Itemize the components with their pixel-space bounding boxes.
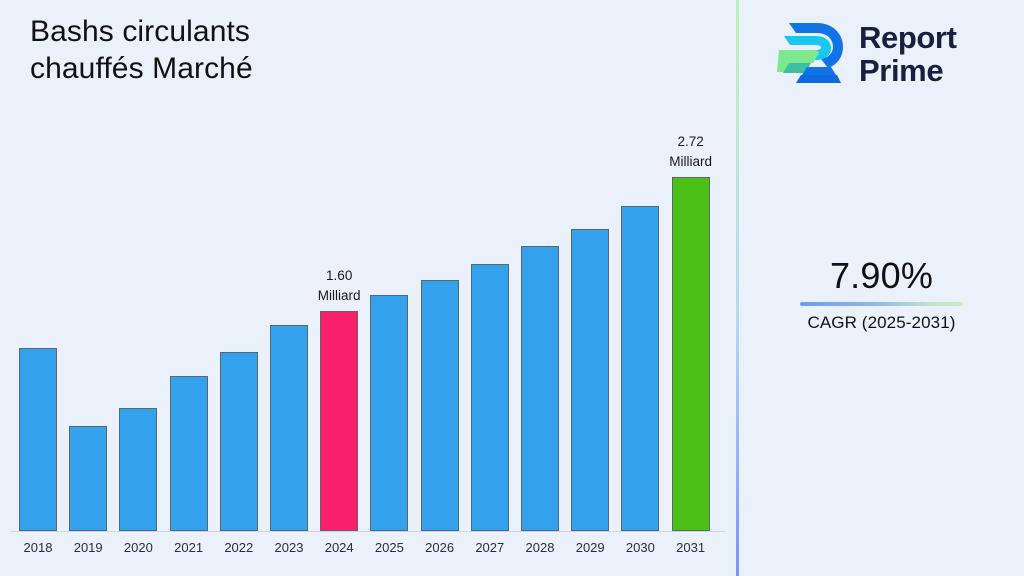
bar-2027[interactable]: [471, 264, 509, 531]
bar-2025[interactable]: [370, 295, 408, 531]
bar-2018[interactable]: [19, 348, 57, 531]
bar-2030[interactable]: [621, 206, 659, 531]
report-prime-logo-icon: [771, 19, 847, 91]
brand-name: Report Prime: [859, 22, 957, 87]
cagr-value: 7.90%: [739, 255, 1024, 296]
brand-logo-block: Report Prime: [771, 14, 1011, 96]
cagr-caption: CAGR (2025-2031): [739, 313, 1024, 333]
bar-2023[interactable]: [270, 325, 308, 531]
summary-panel: Report Prime 7.90% CAGR (2025-2031): [739, 0, 1024, 576]
screenshot-root: Bashs circulants chauffés Marché 2018201…: [0, 0, 1024, 576]
bar-2024[interactable]: [320, 311, 358, 531]
bar-2022[interactable]: [220, 352, 258, 531]
bar-2021[interactable]: [170, 376, 208, 531]
bar-2031[interactable]: [672, 177, 710, 531]
bar-2019[interactable]: [69, 426, 107, 531]
x-axis-line: [10, 531, 725, 532]
cagr-divider-rule: [800, 302, 963, 306]
bar-2026[interactable]: [421, 280, 459, 531]
x-tick-label-2031: 2031: [661, 540, 721, 555]
bar-value-label-2024: 1.60 Milliard: [294, 266, 384, 305]
bar-2028[interactable]: [521, 246, 559, 531]
bar-2020[interactable]: [119, 408, 157, 531]
cagr-block: 7.90% CAGR (2025-2031): [739, 255, 1024, 333]
bar-2029[interactable]: [571, 229, 609, 531]
bar-value-label-2031: 2.72 Milliard: [646, 132, 736, 171]
chart-panel: Bashs circulants chauffés Marché 2018201…: [0, 0, 737, 576]
bar-chart-plot: 2018201920202021202220232024202520262027…: [0, 0, 737, 576]
